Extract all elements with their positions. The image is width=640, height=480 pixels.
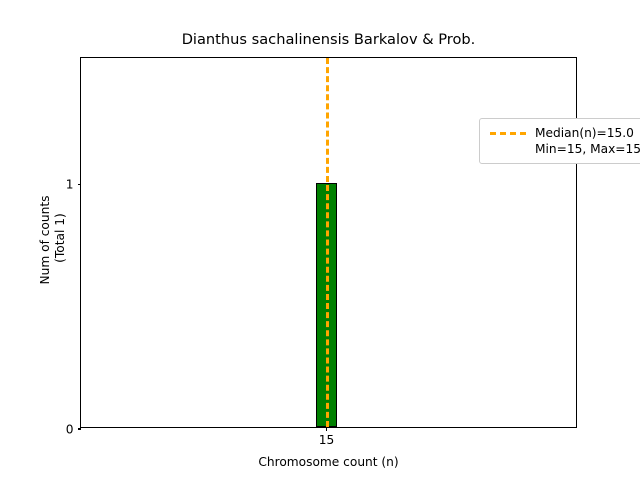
y-axis-label: Num of counts (Total 1) xyxy=(38,196,69,285)
plot-area: 0 1 15 Median(n)=15.0 Min=15, Max=15 xyxy=(80,57,577,428)
x-axis-label: Chromosome count (n) xyxy=(80,455,577,469)
xtick-label-15: 15 xyxy=(319,434,335,446)
chart-legend[interactable]: Median(n)=15.0 Min=15, Max=15 xyxy=(479,118,640,164)
xtick-mark-15 xyxy=(326,427,327,431)
figure-canvas: Dianthus sachalinensis Barkalov & Prob. … xyxy=(0,0,640,480)
median-vline xyxy=(326,58,329,427)
legend-entry-median: Median(n)=15.0 Min=15, Max=15 xyxy=(489,125,640,157)
bars-layer xyxy=(81,58,576,427)
legend-entry-text: Median(n)=15.0 Min=15, Max=15 xyxy=(535,125,640,157)
legend-label-median: Median(n)=15.0 xyxy=(535,125,640,141)
chart-title: Dianthus sachalinensis Barkalov & Prob. xyxy=(80,31,577,48)
legend-dashed-line-icon xyxy=(489,125,527,142)
y-axis-label-wrap: Num of counts (Total 1) xyxy=(18,0,88,480)
legend-label-minmax: Min=15, Max=15 xyxy=(535,141,640,157)
